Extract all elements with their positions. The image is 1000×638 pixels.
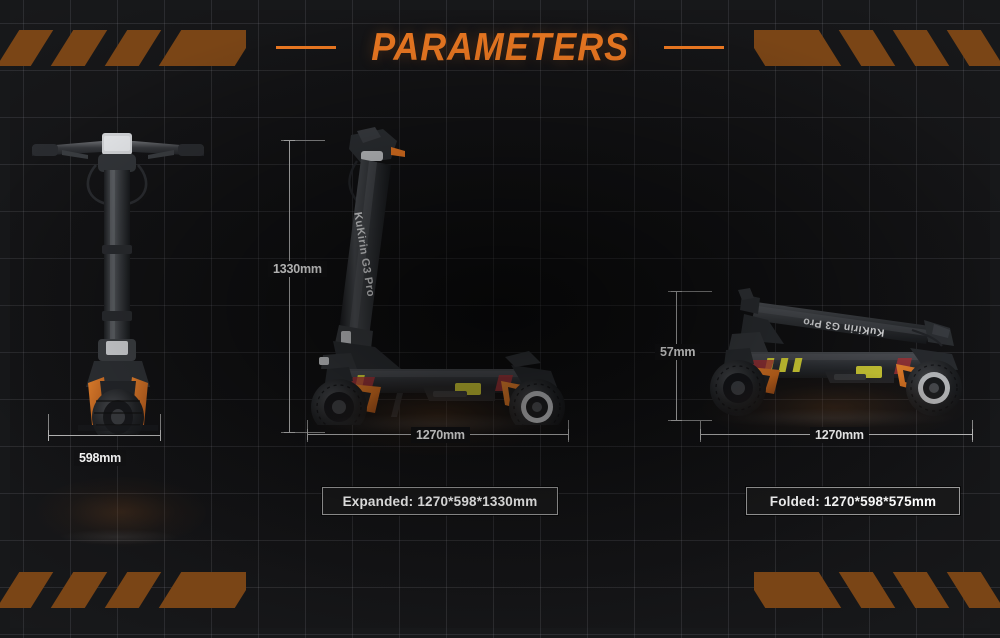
dimension-label-expanded-length: 1270mm <box>411 427 470 443</box>
caption-folded-text: Folded: 1270*598*575mm <box>770 494 937 509</box>
hazard-stripes-bottom-right <box>754 572 1000 608</box>
caption-expanded: Expanded: 1270*598*1330mm <box>322 487 558 515</box>
page-title-bar: PARAMETERS <box>0 28 1000 67</box>
dimension-front-width <box>48 430 161 442</box>
scooter-folded-view: KuKirin G3 Pro <box>698 280 970 425</box>
dimension-label-front-width: 598mm <box>74 450 126 466</box>
dimension-expanded-height <box>284 140 296 433</box>
scooter-front-view <box>18 125 218 435</box>
title-dash-left <box>276 46 336 49</box>
caption-expanded-text: Expanded: 1270*598*1330mm <box>343 494 538 509</box>
page-title: PARAMETERS <box>371 28 629 67</box>
dimension-label-folded-length: 1270mm <box>810 427 869 443</box>
title-dash-right <box>664 46 724 49</box>
parameters-page: PARAMETERS <box>0 0 1000 638</box>
dimension-label-folded-height: 57mm <box>655 344 700 360</box>
hazard-stripes-bottom-left <box>0 572 246 608</box>
scooter-expanded-view: KuKirin G3 Pro <box>305 125 570 425</box>
caption-folded: Folded: 1270*598*575mm <box>746 487 960 515</box>
dimension-label-expanded-height: 1330mm <box>268 261 327 277</box>
scooter-front-illustration <box>18 125 218 435</box>
